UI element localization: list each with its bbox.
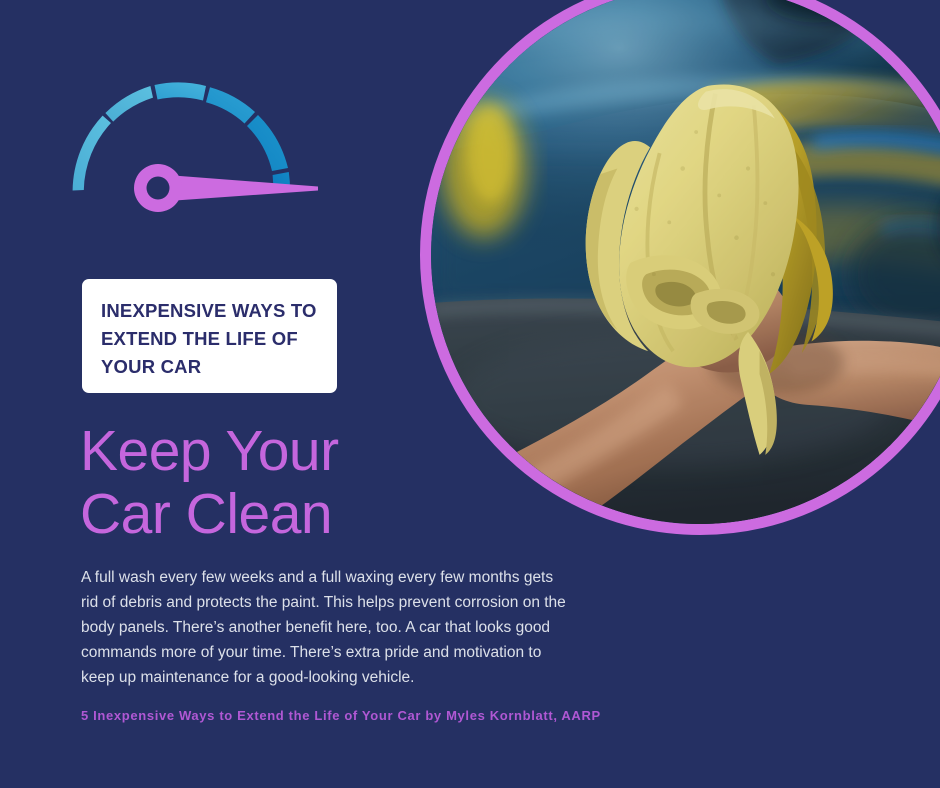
body-paragraph: A full wash every few weeks and a full w… [81,565,573,691]
eyebrow-card: INEXPENSIVE WAYS TO EXTEND THE LIFE OF Y… [82,279,337,393]
source-citation: 5 Inexpensive Ways to Extend the Life of… [81,708,601,723]
car-cleaning-photo-circle [420,0,940,535]
poster-canvas: INEXPENSIVE WAYS TO EXTEND THE LIFE OF Y… [0,0,940,788]
eyebrow-title: INEXPENSIVE WAYS TO EXTEND THE LIFE OF Y… [101,297,317,381]
page-title: Keep Your Car Clean [80,420,440,545]
speedometer-gauge-logo [72,78,357,223]
gauge-arc [73,82,290,191]
gauge-needle [134,164,318,212]
photo-clip [431,0,940,524]
gauge-icon [72,78,357,223]
car-cleaning-photo [431,0,940,524]
